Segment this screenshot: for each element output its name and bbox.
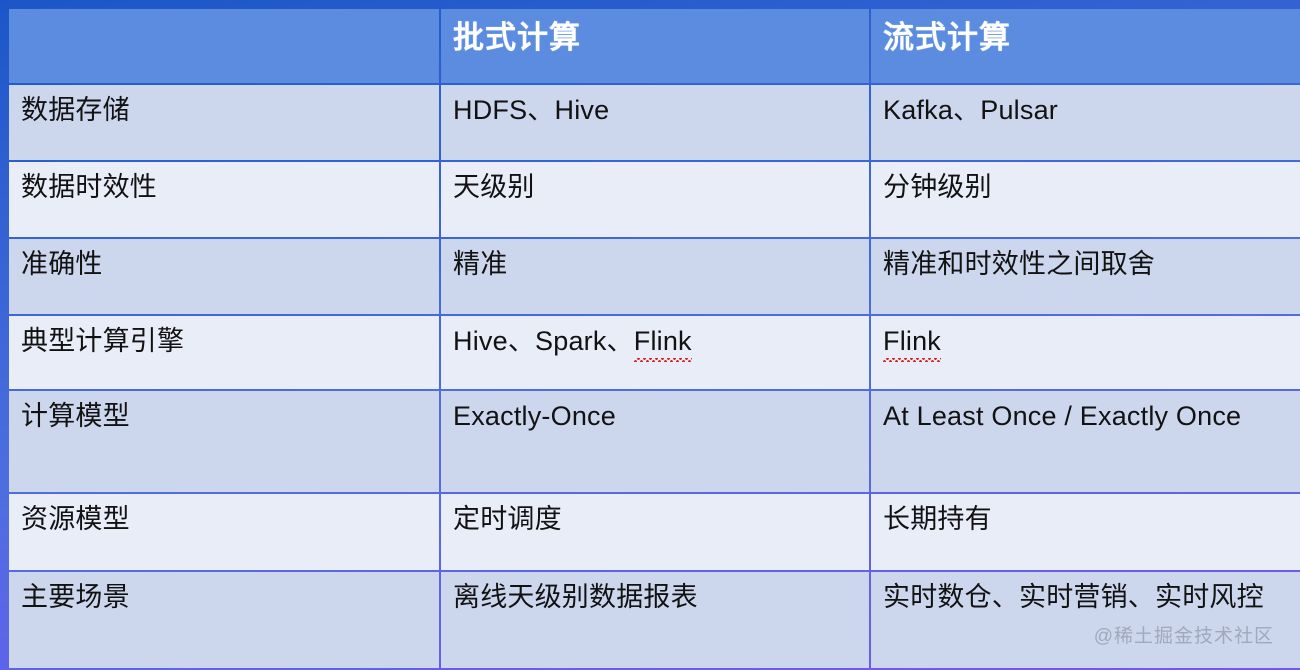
slide-frame: 批式计算 流式计算 数据存储 HDFS、Hive Kafka、Pulsar 数据… xyxy=(0,0,1300,670)
table-row: 典型计算引擎 Hive、Spark、Flink Flink xyxy=(9,316,1300,389)
row-batch-cell: HDFS、Hive xyxy=(441,85,869,160)
spellcheck-flagged-word: Flink xyxy=(883,324,941,360)
row-batch-value: Hive、Spark、 xyxy=(453,326,634,356)
row-label-cell: 准确性 xyxy=(9,239,439,314)
table-row: 计算模型 Exactly-Once At Least Once / Exactl… xyxy=(9,391,1300,492)
row-label: 资源模型 xyxy=(21,504,130,534)
row-stream-value: Kafka、Pulsar xyxy=(883,95,1058,125)
row-stream-cell: 精准和时效性之间取舍 xyxy=(871,239,1300,314)
table-row: 主要场景 离线天级别数据报表 实时数仓、实时营销、实时风控 xyxy=(9,572,1300,668)
row-label-cell: 数据存储 xyxy=(9,85,439,160)
header-cell-batch: 批式计算 xyxy=(441,9,869,83)
row-label: 计算模型 xyxy=(21,401,130,431)
row-label-cell: 数据时效性 xyxy=(9,162,439,237)
row-batch-value: 离线天级别数据报表 xyxy=(453,582,698,612)
row-stream-cell: 分钟级别 xyxy=(871,162,1300,237)
header-label-stream: 流式计算 xyxy=(883,20,1011,55)
row-batch-value: Exactly-Once xyxy=(453,401,616,431)
table-row: 资源模型 定时调度 长期持有 xyxy=(9,494,1300,570)
table-row: 数据时效性 天级别 分钟级别 xyxy=(9,162,1300,237)
spellcheck-flagged-word: Flink xyxy=(634,324,692,360)
row-label: 数据时效性 xyxy=(21,172,157,202)
header-cell-stream: 流式计算 xyxy=(871,9,1300,83)
row-stream-cell: At Least Once / Exactly Once xyxy=(871,391,1300,492)
header-label-batch: 批式计算 xyxy=(453,20,581,55)
row-label-cell: 主要场景 xyxy=(9,572,439,668)
row-batch-cell: 天级别 xyxy=(441,162,869,237)
row-stream-value: 长期持有 xyxy=(883,504,992,534)
row-batch-value: HDFS、Hive xyxy=(453,95,609,125)
row-batch-value: 精准 xyxy=(453,249,507,279)
table-row: 数据存储 HDFS、Hive Kafka、Pulsar xyxy=(9,85,1300,160)
row-batch-cell: 精准 xyxy=(441,239,869,314)
row-batch-cell: Exactly-Once xyxy=(441,391,869,492)
row-label: 主要场景 xyxy=(21,582,130,612)
row-stream-value: 精准和时效性之间取舍 xyxy=(883,249,1155,279)
row-batch-value: 定时调度 xyxy=(453,504,562,534)
header-row: 批式计算 流式计算 xyxy=(9,9,1300,83)
row-label-cell: 典型计算引擎 xyxy=(9,316,439,389)
row-stream-value: 实时数仓、实时营销、实时风控 xyxy=(883,582,1264,612)
row-batch-value: 天级别 xyxy=(453,172,535,202)
row-label: 典型计算引擎 xyxy=(21,326,184,356)
table-header: 批式计算 流式计算 xyxy=(9,9,1300,83)
row-batch-cell: 离线天级别数据报表 xyxy=(441,572,869,668)
batch-vs-stream-comparison-table: 批式计算 流式计算 数据存储 HDFS、Hive Kafka、Pulsar 数据… xyxy=(7,7,1300,670)
row-stream-cell: Kafka、Pulsar xyxy=(871,85,1300,160)
row-batch-cell: 定时调度 xyxy=(441,494,869,570)
row-batch-cell: Hive、Spark、Flink xyxy=(441,316,869,389)
header-cell-dimension xyxy=(9,9,439,83)
row-stream-value: At Least Once / Exactly Once xyxy=(883,401,1241,431)
row-label: 数据存储 xyxy=(21,95,130,125)
row-label-cell: 计算模型 xyxy=(9,391,439,492)
row-stream-value: 分钟级别 xyxy=(883,172,992,202)
row-label-cell: 资源模型 xyxy=(9,494,439,570)
row-stream-cell: 长期持有 xyxy=(871,494,1300,570)
row-stream-cell: Flink xyxy=(871,316,1300,389)
row-label: 准确性 xyxy=(21,249,103,279)
row-stream-cell: 实时数仓、实时营销、实时风控 xyxy=(871,572,1300,668)
table-row: 准确性 精准 精准和时效性之间取舍 xyxy=(9,239,1300,314)
table-body: 数据存储 HDFS、Hive Kafka、Pulsar 数据时效性 天级别 分钟… xyxy=(9,85,1300,668)
